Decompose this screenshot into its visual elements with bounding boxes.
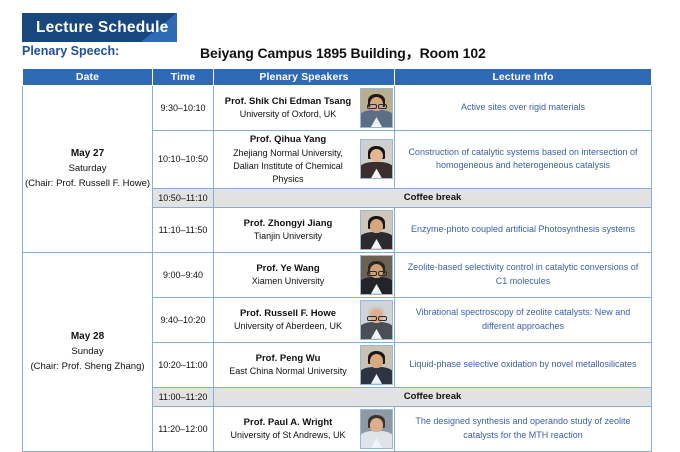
speaker-affiliation: University of St Andrews, UK: [218, 429, 358, 442]
coffee-break-label: Coffee break: [214, 188, 652, 207]
schedule-table: Date Time Plenary Speakers Lecture Info …: [22, 68, 652, 452]
date-chair: (Chair: Prof. Sheng Zhang): [24, 360, 151, 375]
speaker-cell: Prof. Qihua YangZhejiang Normal Universi…: [214, 131, 395, 189]
lecture-info-cell: Vibrational spectroscopy of zeolite cata…: [395, 297, 652, 342]
speaker-cell: Prof. Russell F. HoweUniversity of Aberd…: [214, 297, 395, 342]
speaker-cell: Prof. Paul A. WrightUniversity of St And…: [214, 406, 395, 451]
lecture-info-cell: Construction of catalytic systems based …: [395, 131, 652, 189]
date-cell: May 28Sunday(Chair: Prof. Sheng Zhang): [23, 252, 153, 451]
table-header-row: Date Time Plenary Speakers Lecture Info: [23, 69, 652, 86]
time-cell: 9:30–10:10: [153, 86, 214, 131]
time-cell: 11:00–11:20: [153, 387, 214, 406]
speaker-photo: [360, 255, 393, 295]
time-cell: 9:40–10:20: [153, 297, 214, 342]
speaker-cell: Prof. Ye WangXiamen University: [214, 252, 395, 297]
time-cell: 10:10–10:50: [153, 131, 214, 189]
schedule-body: May 27Saturday(Chair: Prof. Russell F. H…: [23, 86, 652, 452]
time-cell: 9:00–9:40: [153, 252, 214, 297]
speaker-affiliation: Tianjin University: [218, 230, 358, 243]
date-cell: May 27Saturday(Chair: Prof. Russell F. H…: [23, 86, 153, 253]
lecture-info-cell: The designed synthesis and operando stud…: [395, 406, 652, 451]
speaker-affiliation: Dalian Institute of Chemical Physics: [218, 160, 358, 186]
speaker-name: Prof. Peng Wu: [218, 352, 358, 366]
speaker-cell: Prof. Peng WuEast China Normal Universit…: [214, 342, 395, 387]
subheader: Plenary Speech: Beiyang Campus 1895 Buil…: [22, 44, 662, 64]
speaker-affiliation: Zhejiang Normal University,: [218, 147, 358, 160]
speaker-cell: Prof. Zhongyi JiangTianjin University: [214, 207, 395, 252]
lecture-info-cell: Enzyme-photo coupled artificial Photosyn…: [395, 207, 652, 252]
speaker-cell: Prof. Shik Chi Edman TsangUniversity of …: [214, 86, 395, 131]
banner-title: Lecture Schedule: [36, 13, 168, 42]
date-chair: (Chair: Prof. Russell F. Howe): [24, 177, 151, 192]
speaker-photo: [360, 300, 393, 340]
speaker-name: Prof. Russell F. Howe: [218, 307, 358, 321]
time-cell: 11:10–11:50: [153, 207, 214, 252]
speaker-affiliation: Xiamen University: [218, 275, 358, 288]
column-header-info: Lecture Info: [395, 69, 652, 86]
date-weekday: Saturday: [24, 162, 151, 177]
lecture-schedule-banner: Lecture Schedule: [22, 13, 177, 42]
speaker-name: Prof. Paul A. Wright: [218, 416, 358, 430]
time-cell: 10:50–11:10: [153, 188, 214, 207]
schedule-row: May 27Saturday(Chair: Prof. Russell F. H…: [23, 86, 652, 131]
lecture-info-cell: Zeolite-based selectivity control in cat…: [395, 252, 652, 297]
speaker-name: Prof. Shik Chi Edman Tsang: [218, 95, 358, 109]
time-cell: 11:20–12:00: [153, 406, 214, 451]
plenary-speech-label: Plenary Speech:: [22, 44, 119, 58]
schedule-row: May 28Sunday(Chair: Prof. Sheng Zhang)9:…: [23, 252, 652, 297]
column-header-date: Date: [23, 69, 153, 86]
speaker-photo: [360, 88, 393, 128]
speaker-affiliation: University of Oxford, UK: [218, 108, 358, 121]
column-header-speakers: Plenary Speakers: [214, 69, 395, 86]
time-cell: 10:20–11:00: [153, 342, 214, 387]
coffee-break-label: Coffee break: [214, 387, 652, 406]
date-weekday: Sunday: [24, 345, 151, 360]
speaker-photo: [360, 345, 393, 385]
speaker-photo: [360, 139, 393, 179]
column-header-time: Time: [153, 69, 214, 86]
date-main: May 27: [24, 146, 151, 162]
lecture-info-cell: Liquid-phase selective oxidation by nove…: [395, 342, 652, 387]
speaker-name: Prof. Ye Wang: [218, 262, 358, 276]
speaker-affiliation: University of Aberdeen, UK: [218, 320, 358, 333]
date-main: May 28: [24, 329, 151, 345]
speaker-name: Prof. Qihua Yang: [218, 133, 358, 147]
lecture-info-cell: Active sites over rigid materials: [395, 86, 652, 131]
speaker-affiliation: East China Normal University: [218, 365, 358, 378]
speaker-name: Prof. Zhongyi Jiang: [218, 217, 358, 231]
venue-label: Beiyang Campus 1895 Building，Room 102: [200, 43, 486, 63]
speaker-photo: [360, 210, 393, 250]
